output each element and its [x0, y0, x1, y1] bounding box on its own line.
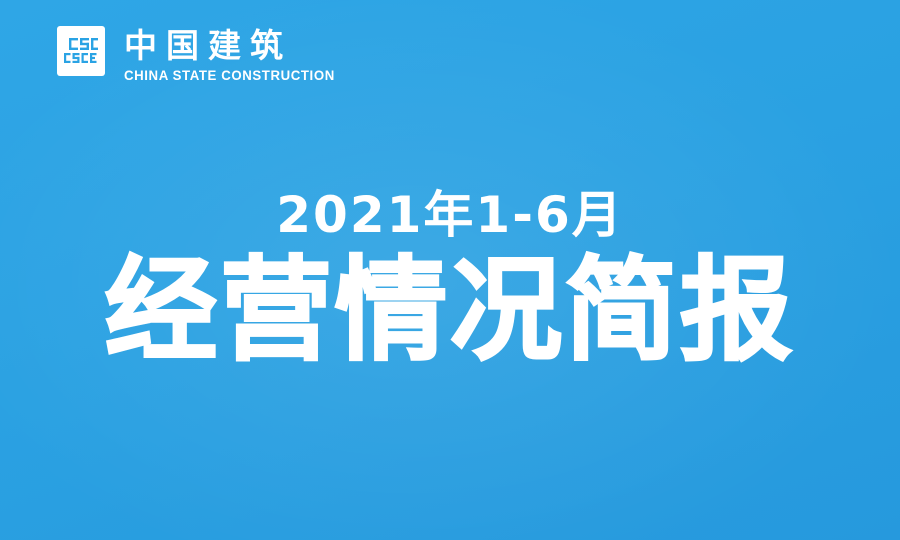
brand-text-block: 中国建筑 CHINA STATE CONSTRUCTION: [124, 26, 339, 83]
poster-canvas: 中国建筑 CHINA STATE CONSTRUCTION 2021年1-6月 …: [0, 0, 900, 540]
report-period: 2021年1-6月: [0, 186, 900, 244]
title-block: 2021年1-6月 经营情况简报: [0, 186, 900, 372]
brand-lockup: 中国建筑 CHINA STATE CONSTRUCTION: [57, 26, 339, 83]
page-title: 经营情况简报: [0, 250, 900, 372]
brand-name-cn: 中国建筑: [124, 27, 339, 65]
brand-name-en: CHINA STATE CONSTRUCTION: [124, 68, 335, 83]
cscec-logo-icon: [57, 26, 105, 76]
